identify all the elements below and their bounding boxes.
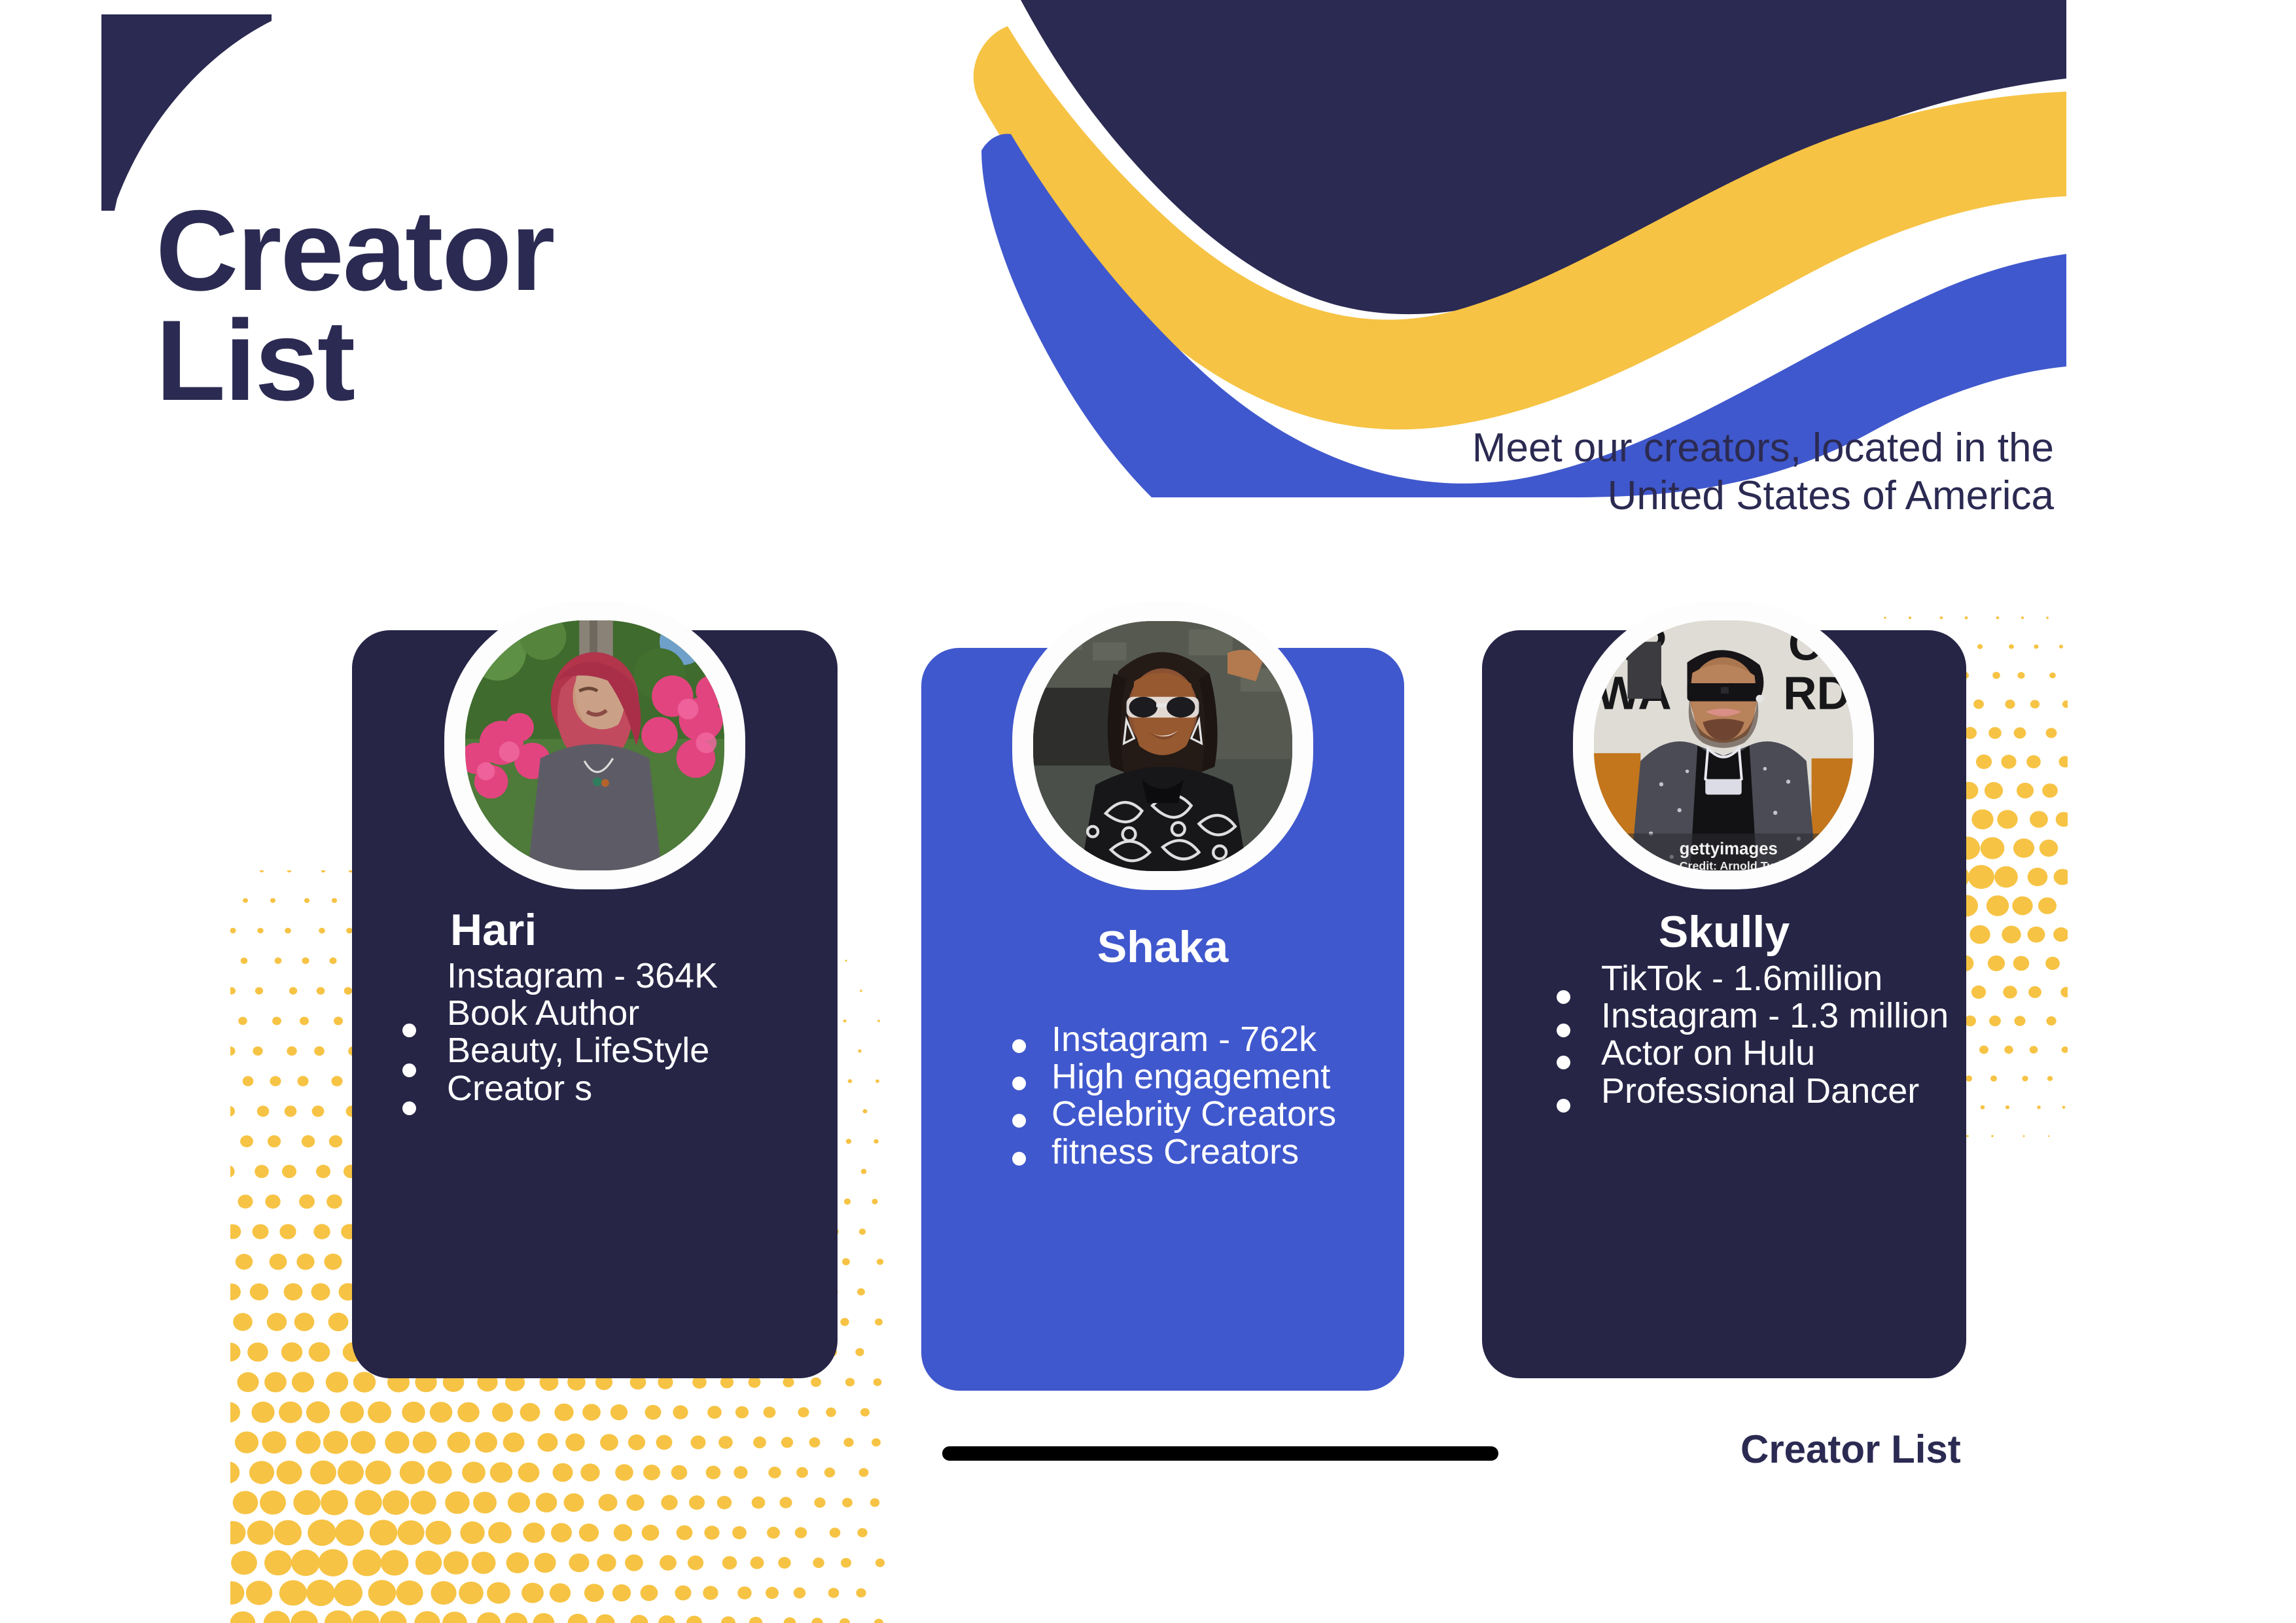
bullet-text: Creator s: [447, 1069, 592, 1108]
bullet-text: Instagram - 364K: [447, 956, 718, 995]
avatar: [444, 601, 745, 889]
creator-name: Hari: [352, 904, 838, 955]
creator-bullets: Instagram - 762k High engagement Celebri…: [1007, 1021, 1336, 1171]
avatar: MP WA C RD: [1573, 601, 1874, 889]
bullet-text: Book Author: [447, 993, 639, 1033]
bullet-dot-icon: [402, 1063, 416, 1077]
avatar-image-hari: [465, 620, 724, 870]
bullet-text: Celebrity Creators: [1051, 1094, 1336, 1133]
bullet-dot-icon: [1012, 1114, 1026, 1128]
poster-canvas: Creator List Meet our creators, located …: [0, 0, 2296, 1623]
list-item: Book Author: [447, 995, 718, 1032]
avatar: [1012, 602, 1313, 890]
bullet-text: Professional Dancer: [1601, 1071, 1919, 1111]
bullet-text: Beauty, LifeStyle: [447, 1031, 709, 1070]
page-title-line1: Creator: [156, 196, 941, 306]
bullet-text: High engagement: [1051, 1057, 1330, 1096]
list-item: Actor on Hulu: [1555, 1035, 1949, 1072]
creator-card[interactable]: Shaka Instagram - 762k High engagement C…: [921, 648, 1404, 1391]
creator-name: Skully: [1482, 906, 1966, 957]
page-subtitle-line2: United States of America: [1269, 472, 2054, 520]
bullet-text: Instagram - 762k: [1051, 1020, 1316, 1059]
bullet-text: TikTok - 1.6million: [1601, 959, 1882, 998]
list-item: Beauty, LifeStyle: [447, 1032, 718, 1069]
bullet-dot-icon: [1557, 1099, 1570, 1113]
creator-bullets: Instagram - 364K Book Author Beauty, Lif…: [447, 957, 718, 1107]
bullet-dot-icon: [1012, 1152, 1026, 1166]
bullet-text: fitness Creators: [1051, 1132, 1299, 1171]
list-item: High engagement: [1007, 1058, 1336, 1096]
svg-text:C: C: [1788, 620, 1822, 670]
avatar-image-skully: MP WA C RD: [1594, 620, 1853, 870]
page-title-line2: List: [156, 306, 941, 416]
list-item: Instagram - 1.3 million: [1555, 997, 1949, 1035]
avatar-image-shaka: [1033, 621, 1292, 871]
footer-divider: [942, 1446, 1498, 1461]
bullet-dot-icon: [402, 1024, 416, 1037]
creator-card[interactable]: Hari Instagram - 364K Book Author Beauty…: [352, 630, 838, 1378]
svg-text:Credit: Arnold Turner: Credit: Arnold Turner: [1680, 859, 1797, 870]
bullet-dot-icon: [1012, 1039, 1026, 1053]
corner-wedge: [101, 14, 272, 211]
creator-bullets: TikTok - 1.6million Instagram - 1.3 mill…: [1555, 960, 1949, 1110]
list-item: TikTok - 1.6million: [1555, 960, 1949, 997]
bullet-dot-icon: [1557, 1056, 1570, 1069]
list-item: Celebrity Creators: [1007, 1096, 1336, 1133]
page-title: Creator List: [156, 196, 941, 416]
list-item: Instagram - 762k: [1007, 1021, 1336, 1058]
footer-label: Creator List: [1740, 1427, 1961, 1472]
bullet-dot-icon: [1012, 1077, 1026, 1090]
list-item: Professional Dancer: [1555, 1073, 1949, 1110]
navy-corner-wedge-icon: [101, 14, 272, 211]
list-item: fitness Creators: [1007, 1133, 1336, 1171]
page-subtitle-line1: Meet our creators, located in the: [1269, 424, 2054, 472]
creator-card[interactable]: MP WA C RD: [1482, 630, 1966, 1378]
bullet-text: Actor on Hulu: [1601, 1033, 1815, 1073]
list-item: Instagram - 364K: [447, 957, 718, 995]
page-subtitle: Meet our creators, located in the United…: [1269, 424, 2054, 520]
bullet-dot-icon: [402, 1101, 416, 1115]
svg-text:gettyimages: gettyimages: [1680, 840, 1778, 858]
creator-name: Shaka: [921, 921, 1404, 972]
list-item: Creator s: [447, 1070, 718, 1107]
bullet-text: Instagram - 1.3 million: [1601, 996, 1949, 1035]
svg-text:RD: RD: [1783, 668, 1850, 720]
